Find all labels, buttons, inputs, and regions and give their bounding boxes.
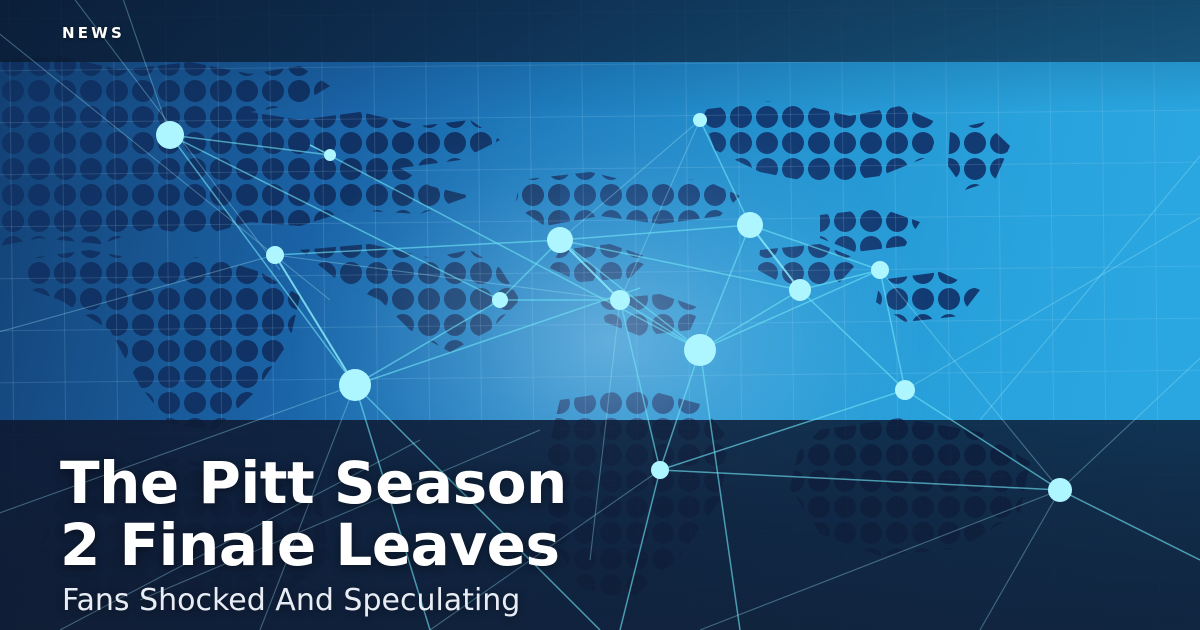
- headline-line-1: The Pitt Season: [60, 452, 700, 514]
- subheadline: Fans Shocked And Speculating: [62, 583, 520, 619]
- news-hero-card: NEWS The Pitt Season 2 Finale Leaves Fan…: [0, 0, 1200, 630]
- page-title: The Pitt Season 2 Finale Leaves: [60, 452, 700, 576]
- category-label: NEWS: [62, 24, 125, 42]
- headline-line-2: 2 Finale Leaves: [60, 514, 700, 576]
